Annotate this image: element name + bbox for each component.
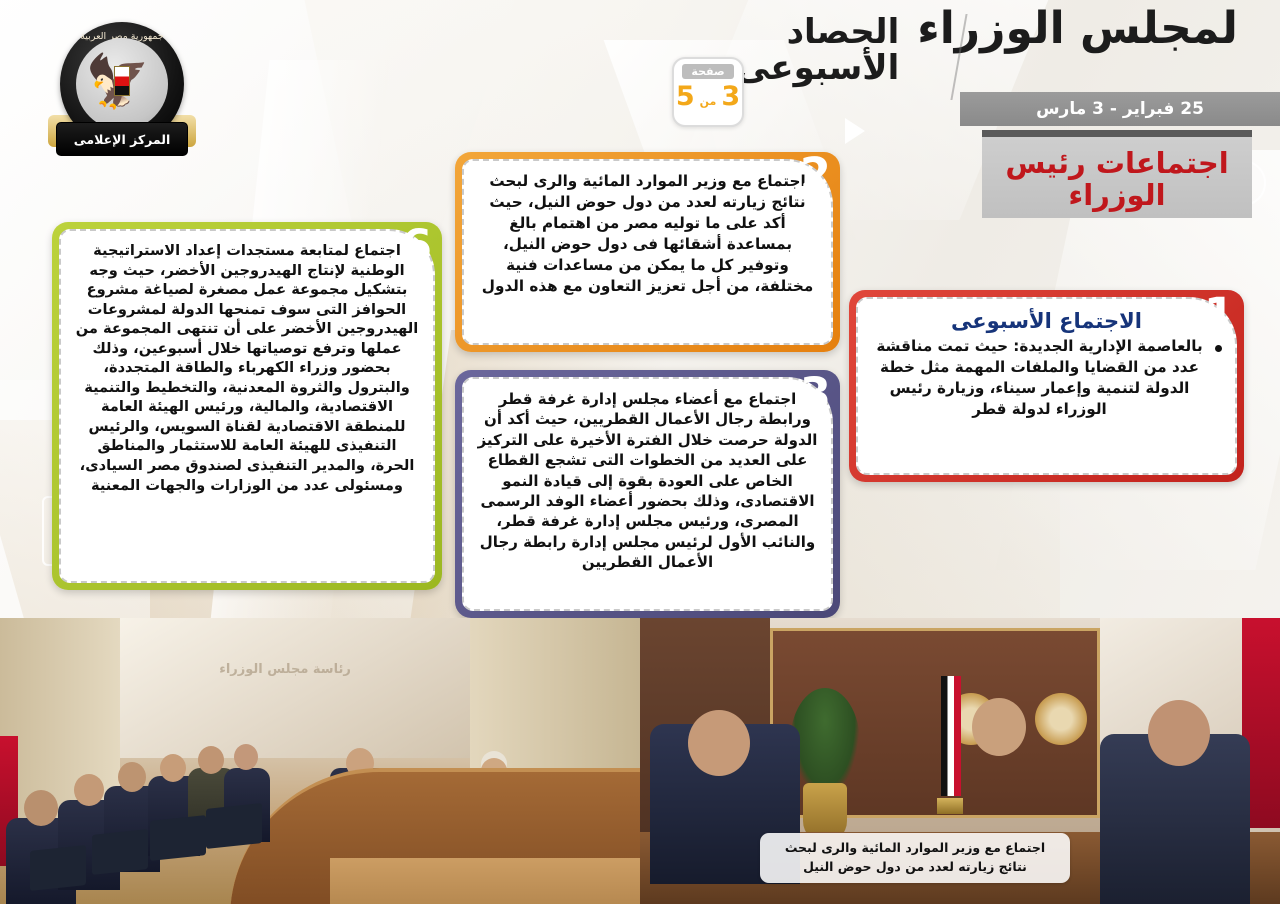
attendee-head bbox=[234, 744, 258, 770]
card-number-1: 1 bbox=[1204, 292, 1235, 337]
photo-left: اجتماع مع وزير الموارد المائية والرى لبح… bbox=[640, 618, 1280, 904]
play-arrow-icon bbox=[845, 118, 865, 144]
laptop-icon bbox=[92, 829, 148, 875]
attendee-head bbox=[198, 746, 224, 774]
card-number-3: 3 bbox=[800, 372, 831, 417]
laptop-row bbox=[10, 788, 310, 904]
card-body-1: بالعاصمة الإدارية الجديدة: حيث تمت مناقش… bbox=[871, 336, 1208, 420]
wall-inscription: رئاسة مجلس الوزراء bbox=[160, 662, 410, 677]
flag-base bbox=[937, 798, 963, 814]
cabinet-logo: جمهورية مصر العربية رئاسة مجلس الوزراء 🦅… bbox=[42, 14, 202, 174]
photo-right: رئاسة مجلس الوزراء bbox=[0, 618, 640, 904]
card-bullet-1: بالعاصمة الإدارية الجديدة: حيث تمت مناقش… bbox=[871, 336, 1222, 420]
card-inner-6: اجتماع لمتابعة مستجدات إعداد الاستراتيجي… bbox=[59, 229, 435, 583]
page-current: 3 bbox=[721, 81, 740, 112]
attendee-head bbox=[160, 754, 186, 782]
card-number-2: 2 bbox=[800, 152, 831, 197]
photo-left-head-center bbox=[972, 698, 1026, 756]
page-label: صفحة bbox=[682, 64, 733, 79]
logo-ribbon: المركز الإعلامى bbox=[56, 122, 188, 156]
logo-ribbon-text: المركز الإعلامى bbox=[74, 132, 171, 147]
title-small-2: الأسبوعى bbox=[736, 50, 899, 86]
laptop-icon bbox=[206, 803, 262, 849]
title-big: لمجلس الوزراء bbox=[917, 6, 1238, 52]
flag-shield-icon bbox=[114, 66, 130, 96]
egypt-flag-icon bbox=[935, 676, 961, 841]
card-item-3[interactable]: 3 اجتماع مع أعضاء مجلس إدارة غرفة قطر ور… bbox=[455, 370, 840, 618]
page-total: 5 bbox=[676, 81, 695, 112]
card-item-1[interactable]: 1 الاجتماع الأسبوعى بالعاصمة الإدارية ال… bbox=[849, 290, 1244, 482]
card-number-6: 6 bbox=[401, 224, 432, 269]
card-body-2: اجتماع مع وزير الموارد المائية والرى لبح… bbox=[477, 171, 818, 297]
card-inner-3: اجتماع مع أعضاء مجلس إدارة غرفة قطر وراب… bbox=[462, 377, 833, 611]
laptop-icon bbox=[150, 815, 206, 861]
date-range-text: 25 فبراير - 3 مارس bbox=[1036, 99, 1204, 119]
bullet-dot-icon bbox=[1215, 345, 1222, 352]
page-numbers: 3 من 5 bbox=[676, 81, 740, 112]
date-range-bar: 25 فبراير - 3 مارس bbox=[960, 92, 1280, 126]
card-inner-2: اجتماع مع وزير الموارد المائية والرى لبح… bbox=[462, 159, 833, 345]
section-title-text: اجتماعات رئيس الوزراء bbox=[982, 140, 1252, 218]
card-inner-1: الاجتماع الأسبوعى بالعاصمة الإدارية الجد… bbox=[856, 297, 1237, 475]
page-title: لمجلس الوزراء الحصاد الأسبوعى bbox=[736, 6, 1256, 86]
flag-cloth bbox=[941, 676, 961, 796]
photo-left-head-right bbox=[1148, 700, 1210, 766]
photo-left-head-left bbox=[688, 710, 750, 776]
page-of: من bbox=[700, 95, 717, 108]
card-body-6: اجتماع لمتابعة مستجدات إعداد الاستراتيجي… bbox=[74, 241, 420, 495]
card-body-3: اجتماع مع أعضاء مجلس إدارة غرفة قطر وراب… bbox=[477, 389, 818, 573]
card-heading-1: الاجتماع الأسبوعى bbox=[871, 309, 1222, 333]
page-indicator-badge: صفحة 3 من 5 bbox=[672, 57, 744, 127]
card-item-6[interactable]: 6 اجتماع لمتابعة مستجدات إعداد الاستراتي… bbox=[52, 222, 442, 590]
wall-medallion-icon bbox=[1035, 693, 1087, 745]
photo-left-caption: اجتماع مع وزير الموارد المائية والرى لبح… bbox=[760, 833, 1070, 883]
section-title-banner: اجتماعات رئيس الوزراء bbox=[982, 130, 1252, 218]
photo-strip: اجتماع مع وزير الموارد المائية والرى لبح… bbox=[0, 618, 1280, 904]
photo-right-floor bbox=[330, 858, 640, 904]
infographic-page: جمهورية مصر العربية رئاسة مجلس الوزراء 🦅… bbox=[0, 0, 1280, 904]
laptop-icon bbox=[30, 845, 86, 891]
card-item-2[interactable]: 2 اجتماع مع وزير الموارد المائية والرى ل… bbox=[455, 152, 840, 352]
potted-plant-icon bbox=[790, 688, 860, 798]
title-small-1: الحصاد bbox=[736, 14, 899, 50]
